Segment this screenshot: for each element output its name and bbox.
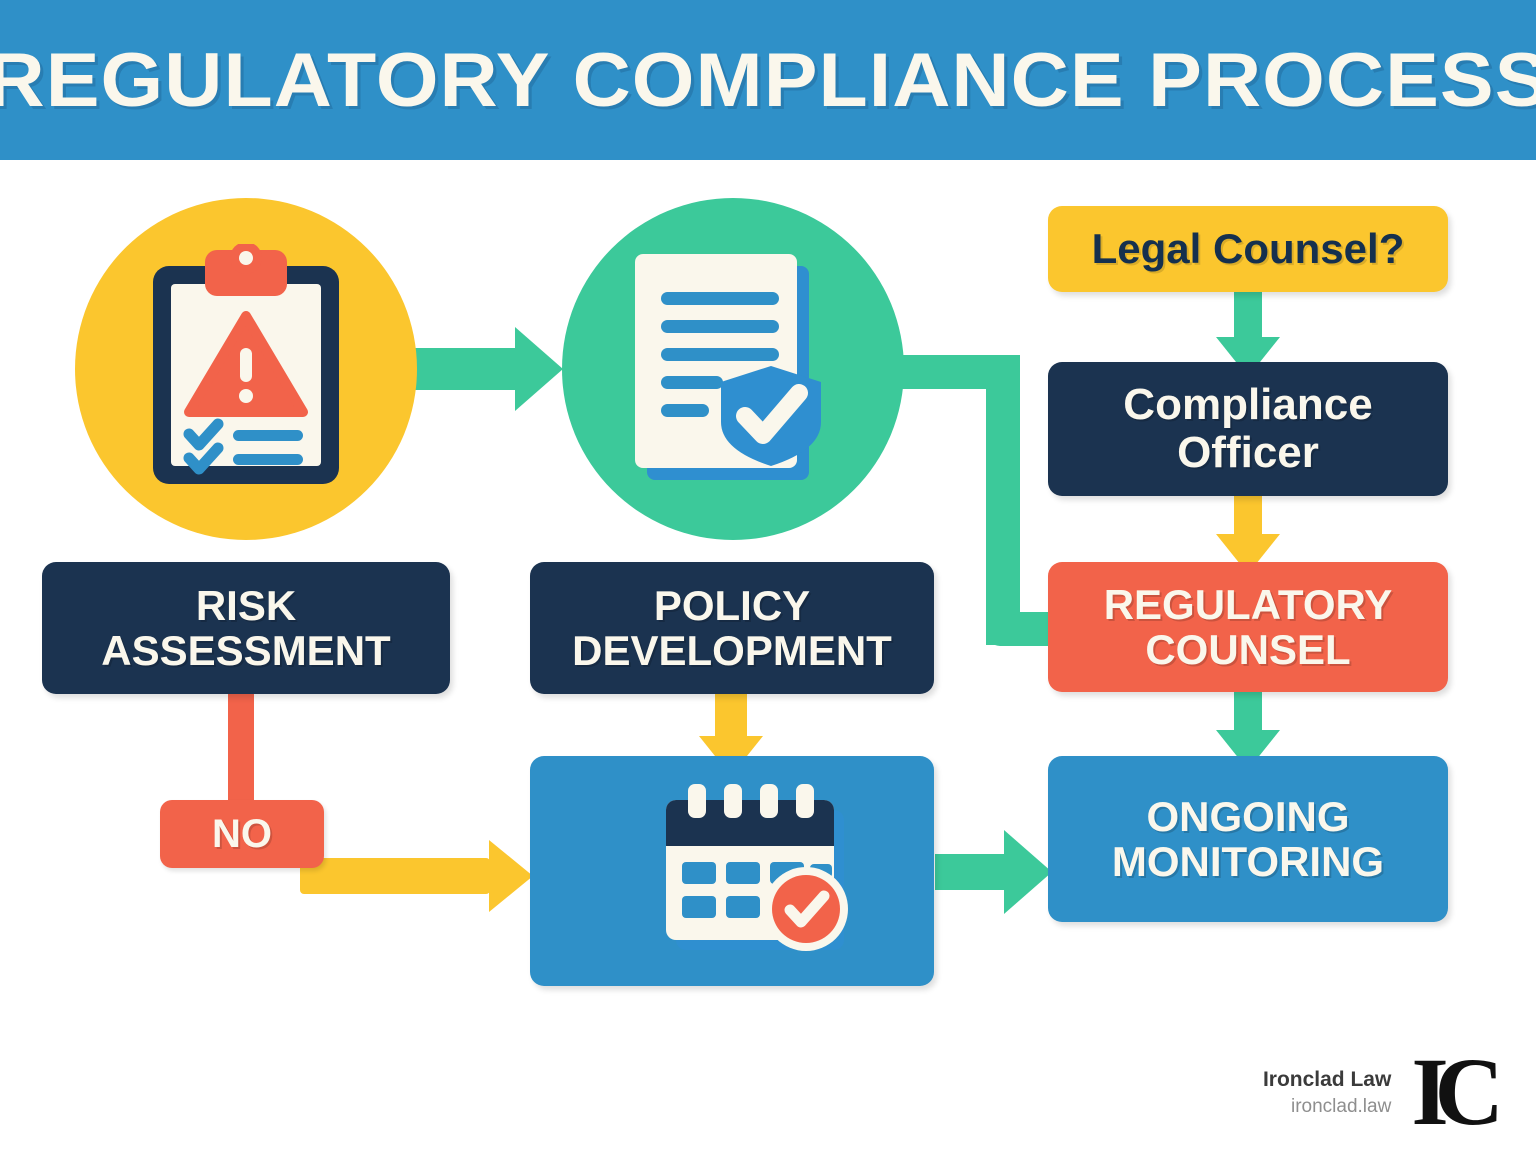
- node-scheduling[interactable]: [530, 756, 934, 986]
- edge-schedule-to-monitoring-shaft: [935, 854, 1005, 890]
- edge-schedule-to-monitoring-arrowhead: [1004, 830, 1052, 914]
- node-policy-development-line2: DEVELOPMENT: [558, 628, 906, 673]
- node-ongoing-monitoring-line2: MONITORING: [1098, 839, 1398, 884]
- risk-assessment-icon-circle: [75, 198, 417, 540]
- footer-branding: Ironclad Law ironclad.law IC: [1263, 1053, 1500, 1132]
- edge-no-to-schedule-shaft: [300, 858, 490, 894]
- edge-legal-to-compliance-shaft: [1234, 290, 1262, 340]
- node-risk-assessment-line1: RISK: [87, 583, 404, 628]
- node-regulatory-counsel[interactable]: REGULATORY COUNSEL: [1048, 562, 1448, 692]
- edge-label-no-text: NO: [212, 812, 272, 857]
- node-regulatory-counsel-line2: COUNSEL: [1090, 627, 1407, 672]
- edge-risk-to-policy-arrowhead: [515, 327, 563, 411]
- node-ongoing-monitoring-line1: ONGOING: [1098, 794, 1398, 839]
- clipboard-warning-checklist-icon: [141, 244, 351, 494]
- node-regulatory-counsel-line1: REGULATORY: [1090, 582, 1407, 627]
- brand-url: ironclad.law: [1263, 1094, 1391, 1120]
- node-policy-development-line1: POLICY: [558, 583, 906, 628]
- edge-risk-to-policy-shaft: [415, 348, 515, 390]
- node-compliance-officer[interactable]: Compliance Officer: [1048, 362, 1448, 496]
- infographic-canvas: REGULATORY COMPLIANCE PROCESS: [0, 0, 1536, 1154]
- edge-policy-to-regulatory-v: [986, 355, 1020, 645]
- brand-name: Ironclad Law: [1263, 1066, 1391, 1094]
- node-risk-assessment-line2: ASSESSMENT: [87, 628, 404, 673]
- edge-risk-to-no: [228, 690, 254, 810]
- edge-policy-to-schedule-shaft: [715, 688, 747, 736]
- header-banner: REGULATORY COMPLIANCE PROCESS: [0, 0, 1536, 160]
- document-shield-check-icon: [621, 244, 846, 494]
- node-compliance-officer-line1: Compliance: [1109, 381, 1386, 429]
- node-risk-assessment[interactable]: RISK ASSESSMENT: [42, 562, 450, 694]
- footer-text-block: Ironclad Law ironclad.law: [1263, 1066, 1391, 1120]
- node-compliance-officer-line2: Officer: [1109, 429, 1386, 477]
- calendar-check-icon: [610, 784, 855, 959]
- brand-monogram-logo: IC: [1411, 1053, 1500, 1132]
- node-legal-counsel[interactable]: Legal Counsel?: [1048, 206, 1448, 292]
- node-policy-development[interactable]: POLICY DEVELOPMENT: [530, 562, 934, 694]
- page-title: REGULATORY COMPLIANCE PROCESS: [0, 0, 1536, 160]
- edge-label-no: NO: [160, 800, 324, 868]
- node-ongoing-monitoring[interactable]: ONGOING MONITORING: [1048, 756, 1448, 922]
- edge-no-to-schedule-arrowhead: [489, 840, 533, 912]
- policy-development-icon-circle: [562, 198, 904, 540]
- node-legal-counsel-label: Legal Counsel?: [1078, 226, 1419, 271]
